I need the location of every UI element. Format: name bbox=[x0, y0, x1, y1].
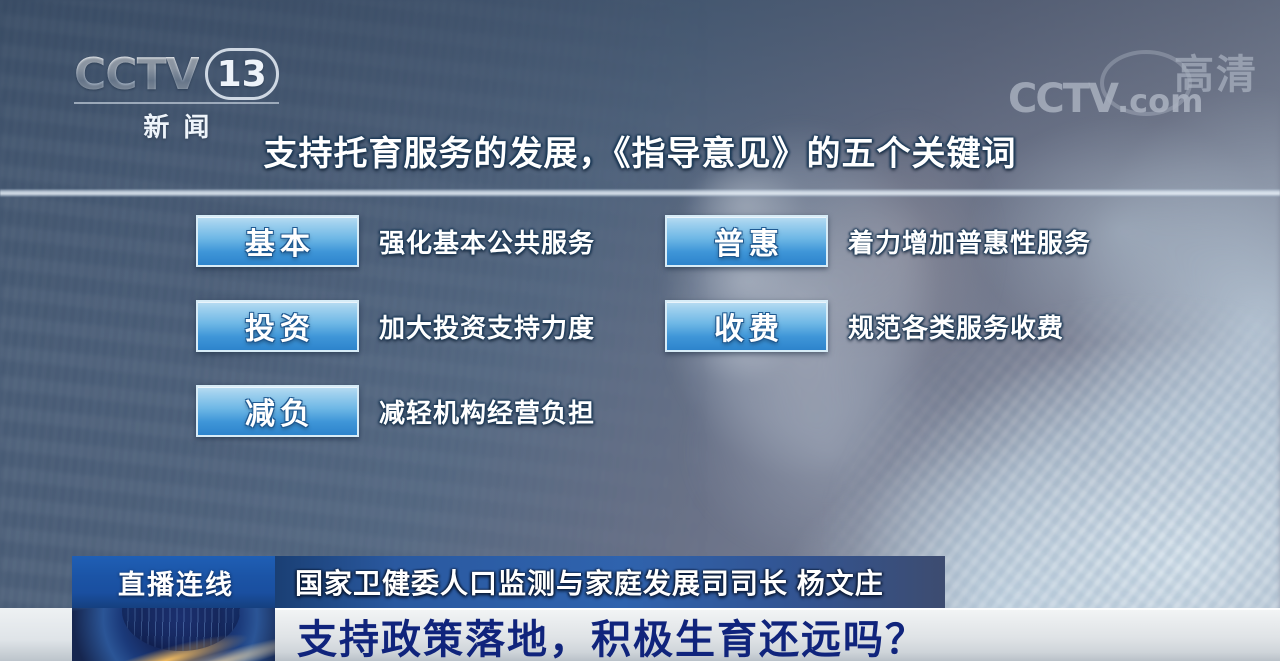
keyword-chip: 普惠 bbox=[665, 215, 828, 267]
watermark-domain-text: .com bbox=[1117, 82, 1203, 120]
broadcast-screen: CCTV 13 新闻 高清 CCTV.com 支持托育服务的发展，《指导意见》的… bbox=[0, 0, 1280, 661]
keyword-chip: 减负 bbox=[196, 385, 359, 437]
watermark-brand: CCTV.com bbox=[1008, 76, 1203, 122]
keyword-chip-label: 普惠 bbox=[709, 219, 784, 263]
channel-number: 13 bbox=[217, 54, 267, 95]
topic-banner: 支持政策落地，积极生育还远吗？ bbox=[275, 608, 1280, 661]
lower-third: 直播连线 国家卫健委人口监测与家庭发展司司长 杨文庄 支持政策落地，积极生育还远… bbox=[0, 556, 1280, 661]
cctv-com-watermark: 高清 CCTV.com bbox=[1008, 46, 1270, 126]
cctv-wordmark: CCTV bbox=[74, 49, 199, 100]
page-title: 支持托育服务的发展，《指导意见》的五个关键词 bbox=[0, 126, 1280, 175]
keyword-chip-label: 投资 bbox=[240, 304, 315, 348]
keyword-chip-label: 减负 bbox=[240, 389, 315, 433]
channel-logo-rule bbox=[74, 102, 279, 104]
topic-banner-left-cap bbox=[0, 608, 72, 661]
keyword-chip-label: 基本 bbox=[240, 219, 315, 263]
keyword-description: 着力增加普惠性服务 bbox=[848, 223, 1091, 260]
keyword-item-touzi: 投资 加大投资支持力度 bbox=[196, 297, 595, 355]
keyword-item-jiben: 基本 强化基本公共服务 bbox=[196, 212, 595, 270]
live-badge: 直播连线 bbox=[72, 556, 280, 608]
channel-number-badge: 13 bbox=[205, 48, 279, 100]
live-badge-label: 直播连线 bbox=[118, 563, 234, 602]
keyword-chip: 基本 bbox=[196, 215, 359, 267]
title-divider bbox=[0, 189, 1280, 197]
topic-label: 支持政策落地，积极生育还远吗？ bbox=[297, 607, 927, 661]
keyword-description: 规范各类服务收费 bbox=[848, 308, 1064, 345]
keyword-chip-label: 收费 bbox=[709, 304, 784, 348]
keyword-chip: 收费 bbox=[665, 300, 828, 352]
keyword-item-shoufei: 收费 规范各类服务收费 bbox=[665, 297, 1064, 355]
keyword-chip: 投资 bbox=[196, 300, 359, 352]
watermark-brand-text: CCTV bbox=[1008, 76, 1117, 122]
keyword-item-jianfu: 减负 减轻机构经营负担 bbox=[196, 382, 595, 440]
keyword-description: 强化基本公共服务 bbox=[379, 223, 595, 260]
channel-logo-row: CCTV 13 bbox=[74, 48, 279, 100]
keyword-item-puhui: 普惠 着力增加普惠性服务 bbox=[665, 212, 1091, 270]
guest-title-label: 国家卫健委人口监测与家庭发展司司长 杨文庄 bbox=[295, 562, 884, 602]
keyword-description: 减轻机构经营负担 bbox=[379, 393, 595, 430]
keyword-description: 加大投资支持力度 bbox=[379, 308, 595, 345]
guest-title-banner: 国家卫健委人口监测与家庭发展司司长 杨文庄 bbox=[275, 556, 945, 608]
